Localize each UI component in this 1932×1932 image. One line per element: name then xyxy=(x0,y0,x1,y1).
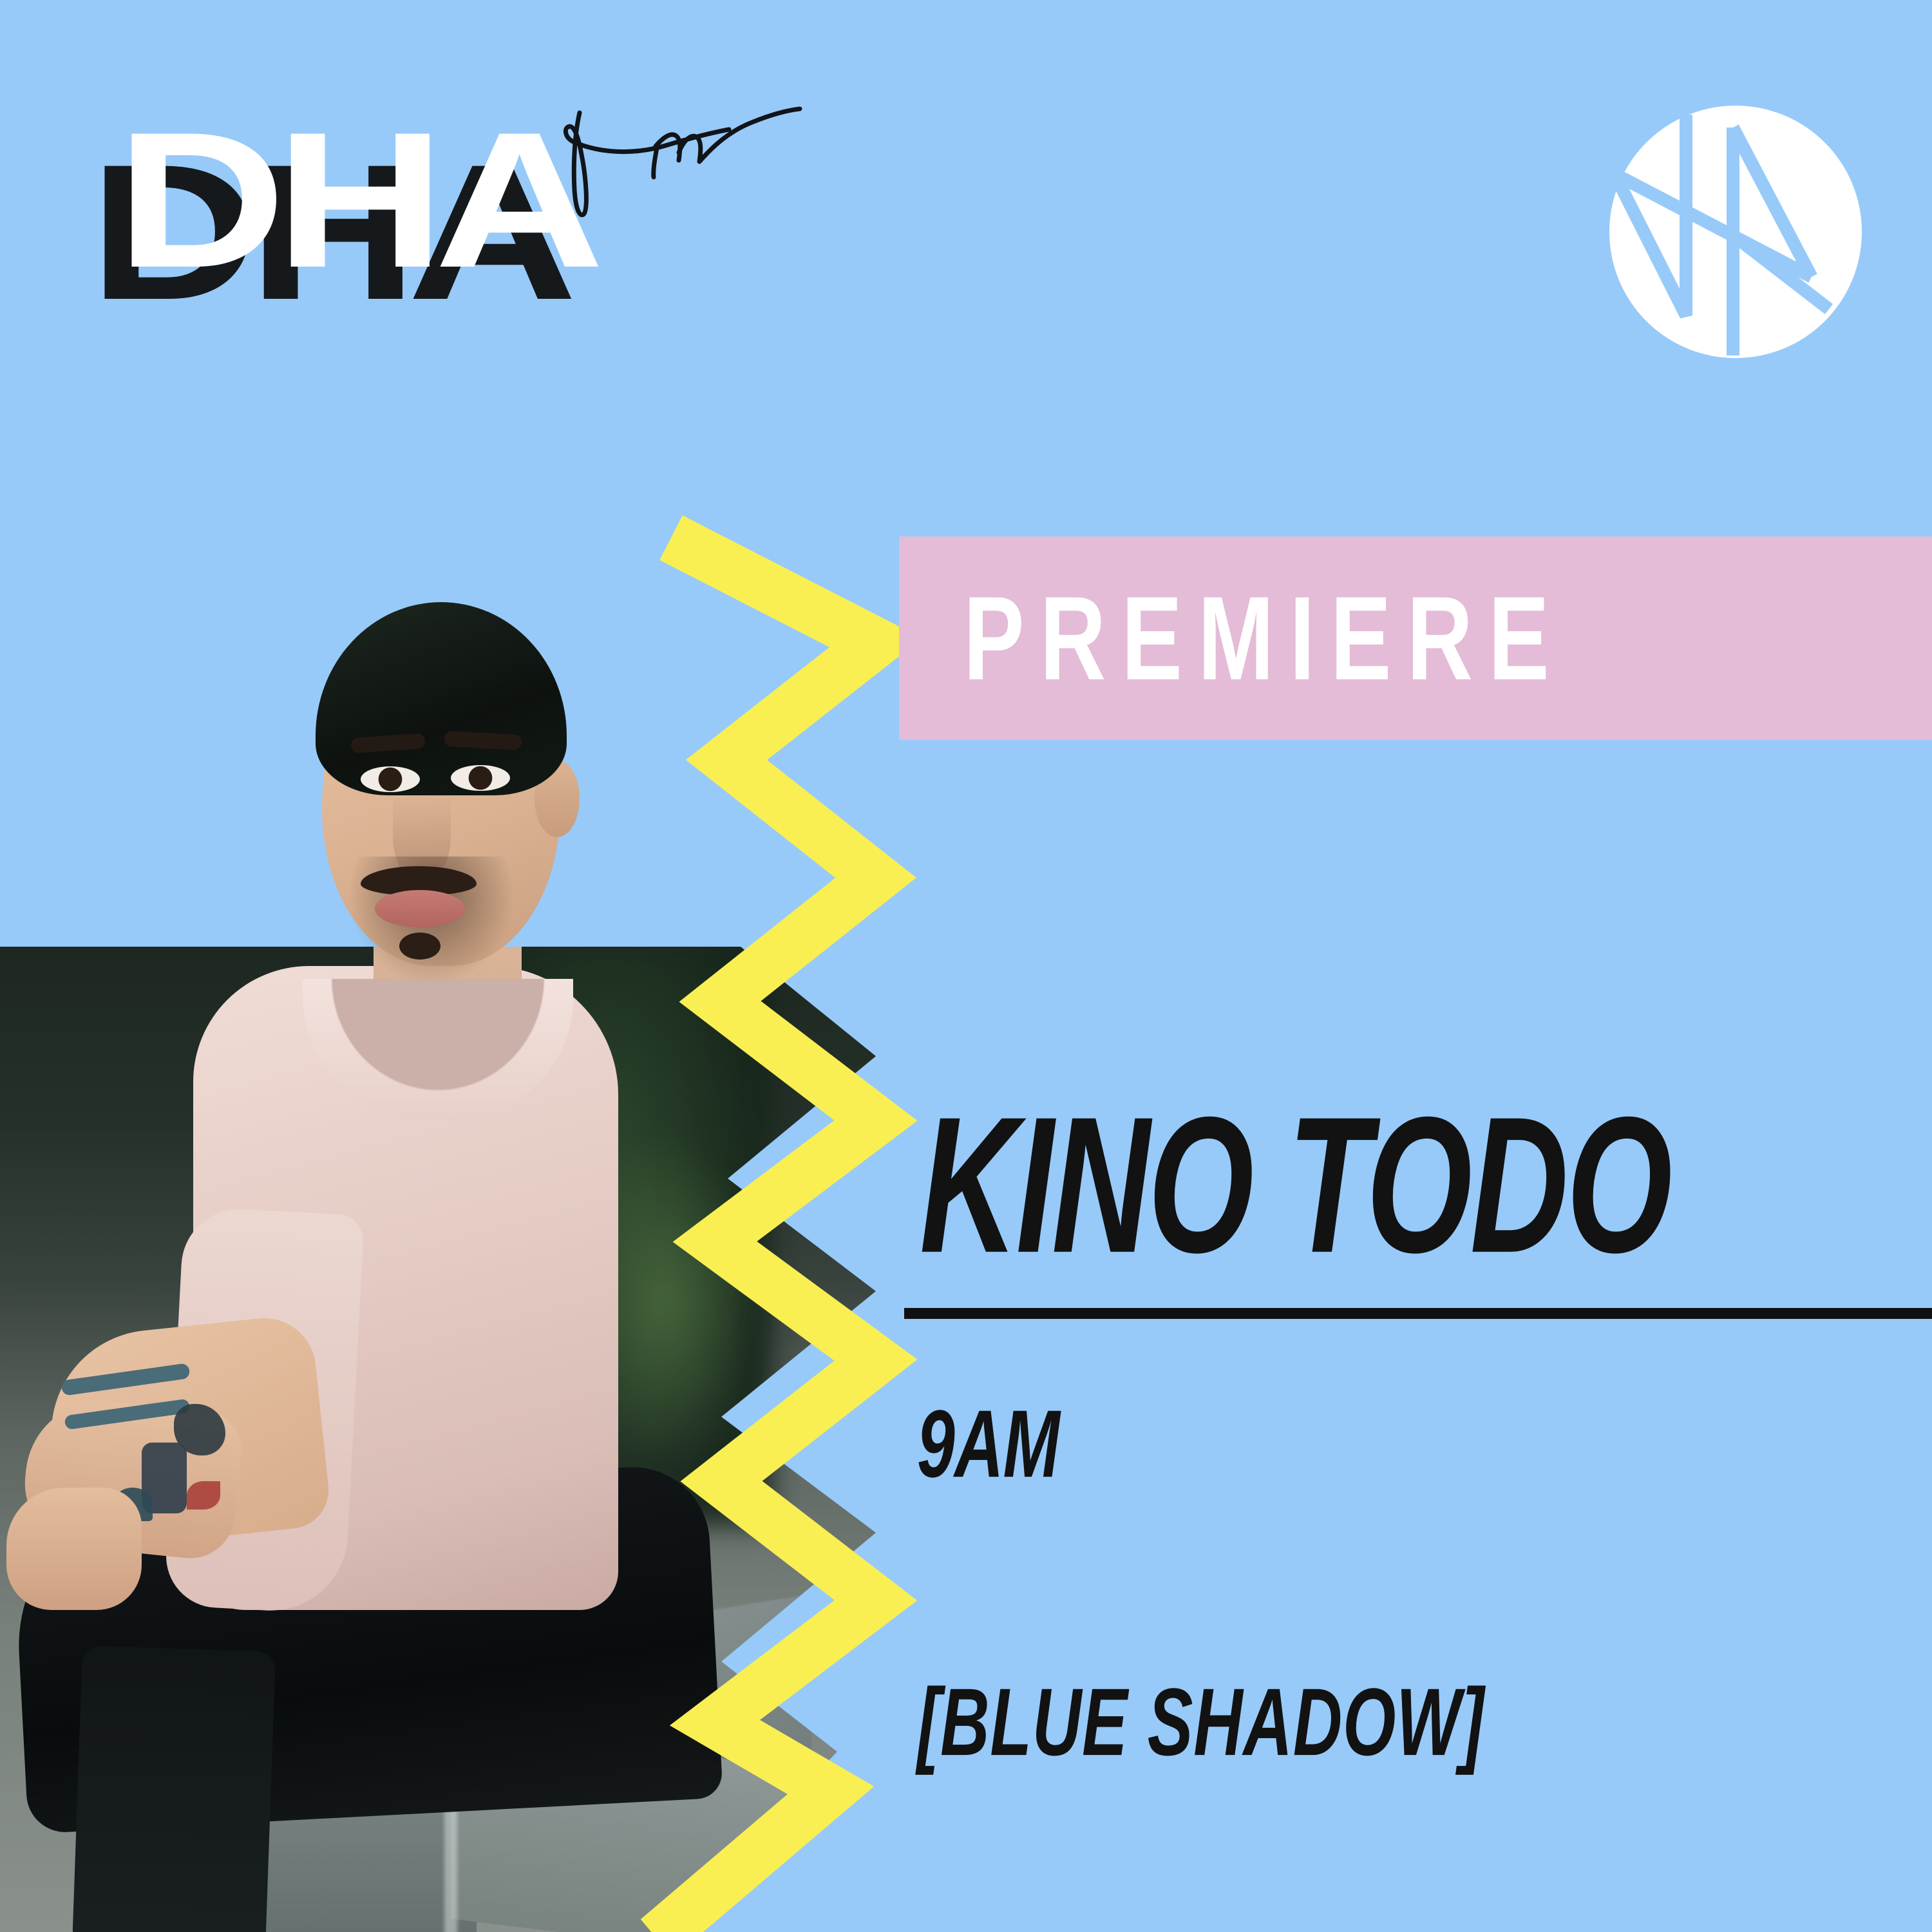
broadcast-time: 9AM xyxy=(917,1396,1059,1492)
person-hand xyxy=(6,1488,142,1610)
premiere-poster: DHA DHA xyxy=(0,0,1932,1932)
record-label: [BLUE SHADOW] xyxy=(917,1674,1484,1770)
dha-wordmark: DHA xyxy=(116,113,594,287)
dha-circle-monogram-icon xyxy=(1607,103,1864,361)
person-lower-leg xyxy=(72,1645,276,1932)
artist-name: KINO TODO xyxy=(920,1088,1671,1282)
person-lips xyxy=(375,890,465,927)
premiere-label: PREMIERE xyxy=(963,579,1565,698)
dha-logo: DHA DHA xyxy=(116,113,696,287)
person-soul-patch xyxy=(399,933,440,960)
person-eye-right xyxy=(451,765,510,791)
divider-rule xyxy=(904,1308,1932,1319)
person-eye-left xyxy=(361,766,420,792)
tattoo-red xyxy=(187,1481,220,1510)
person-hair xyxy=(316,602,567,795)
premiere-banner: PREMIERE xyxy=(899,536,1932,740)
fm-script-icon xyxy=(560,100,831,248)
